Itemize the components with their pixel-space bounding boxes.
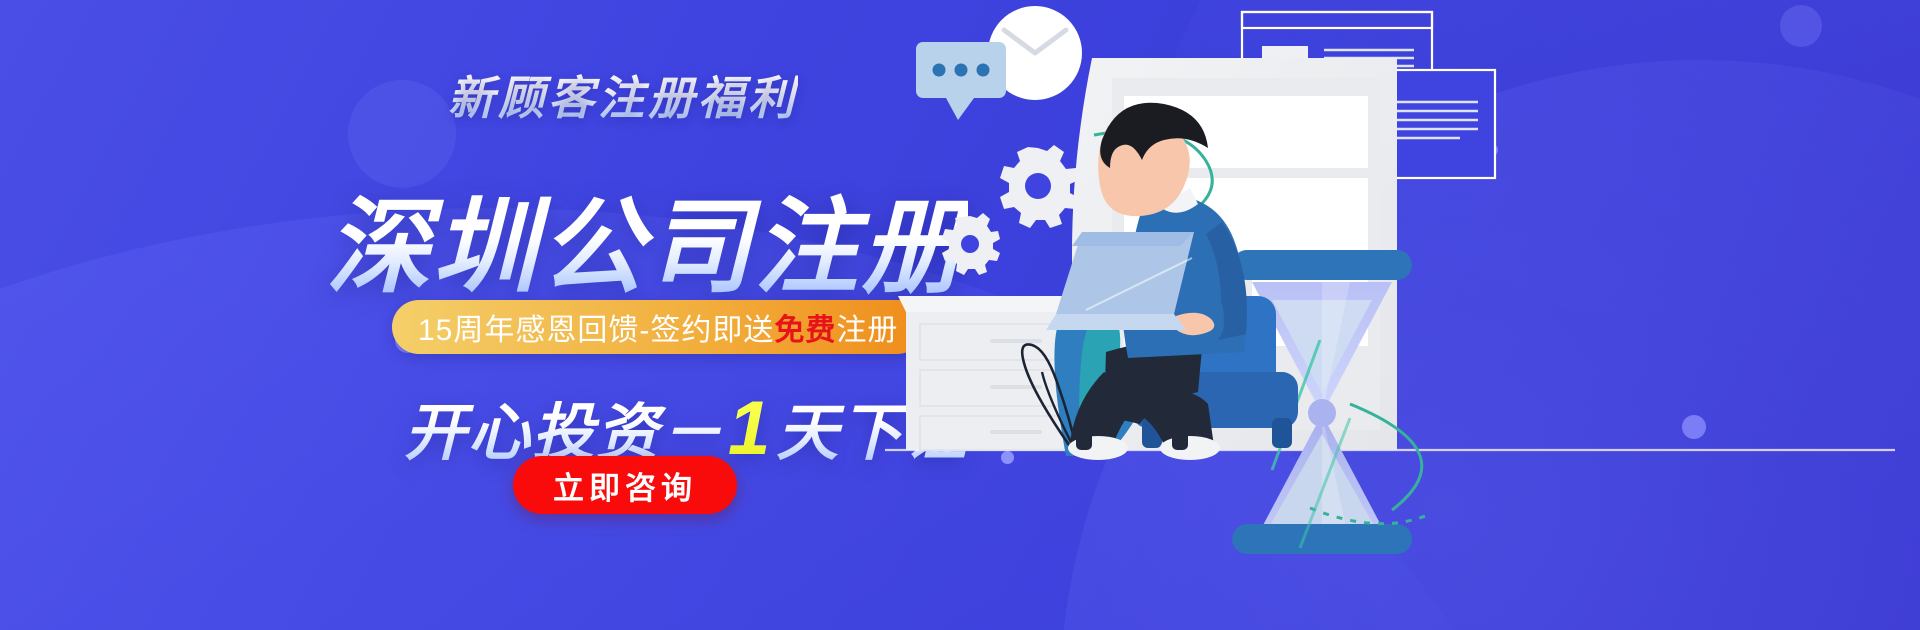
illustration-svg [880,0,1920,630]
promo-badge-highlight: 免费 [774,305,836,349]
headline-text: 深圳公司注册 [326,192,968,304]
consult-now-button[interactable]: 立即咨询 [513,456,737,514]
laptop-icon [1046,232,1194,330]
promo-badge-prefix: 15周年感恩回馈-签约即送 [418,305,774,349]
gear-large-icon [1000,145,1079,228]
kicker-text: 新顾客注册福利 [448,62,798,128]
promo-banner: 新顾客注册福利 深圳公司注册 15周年感恩回馈-签约即送 免费 注册 开心投资－… [0,0,1920,630]
illustration [880,0,1920,630]
chat-bubble-icon [916,42,1006,120]
promo-badge: 15周年感恩回馈-签约即送 免费 注册 [392,300,924,354]
gear-small-icon [942,213,1000,275]
tagline-number: 1 [724,385,776,472]
